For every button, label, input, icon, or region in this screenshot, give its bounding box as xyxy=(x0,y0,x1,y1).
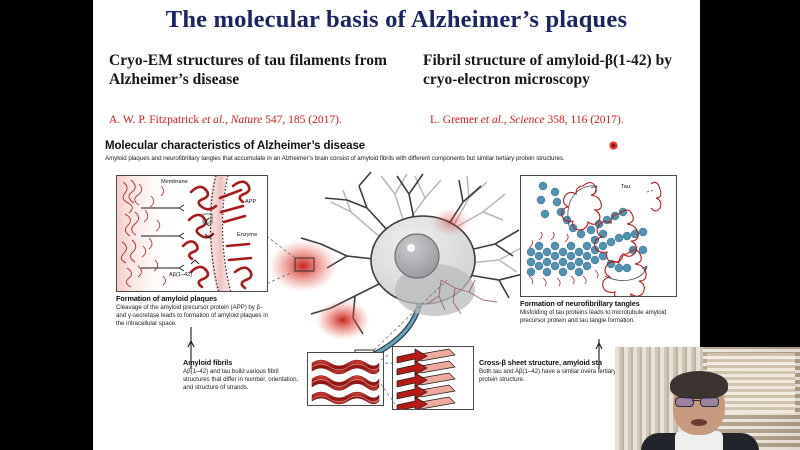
page-title: The molecular basis of Alzheimer’s plaqu… xyxy=(93,6,700,34)
caption-neurofibrillary-tangles: Formation of neurofibrillary tangles Mis… xyxy=(520,299,692,325)
label-tau: Tau xyxy=(621,184,630,190)
panel-amyloid-plaques: Membrane APP Enzyme Aβ(1–42) xyxy=(116,175,268,292)
caption-cross-beta-title: Cross-β sheet structure, amyloid sta xyxy=(479,358,629,367)
figure-subheading: Amyloid plaques and neurofibrillary tang… xyxy=(105,155,693,163)
glasses-left-lens xyxy=(675,397,694,407)
caption-amyloid-plaques: Formation of amyloid plaques Cleavage of… xyxy=(116,294,268,328)
label-membrane: Membrane xyxy=(161,179,188,185)
caption-amyloid-fibrils: Amyloid fibrils Aβ(1–42) and tau build v… xyxy=(183,358,303,392)
panel-fibril-structures xyxy=(307,352,384,406)
fibril-strands-diagram xyxy=(308,353,383,405)
presenter-mouth xyxy=(691,419,707,426)
citation-left-authors: A. W. P. Fitzpatrick xyxy=(109,114,202,126)
video-presentation-stage: The molecular basis of Alzheimer’s plaqu… xyxy=(0,0,800,450)
label-app: APP xyxy=(245,199,256,205)
citation-right-ref: 358, 116 (2017). xyxy=(545,114,624,126)
citation-left-etal: et al. xyxy=(202,114,225,126)
subtitle-left: Cryo-EM structures of tau filaments from… xyxy=(109,52,399,90)
figure-molecular-characteristics: Molecular characteristics of Alzheimer’s… xyxy=(105,140,695,440)
citation-left: A. W. P. Fitzpatrick et al., Nature 547,… xyxy=(109,114,342,126)
caption-tangles-title: Formation of neurofibrillary tangles xyxy=(520,299,692,308)
figure-heading: Molecular characteristics of Alzheimer’s… xyxy=(105,140,365,152)
caption-fibrils-body: Aβ(1–42) and tau build various fibril st… xyxy=(183,368,303,392)
caption-amyloid-plaques-title: Formation of amyloid plaques xyxy=(116,294,268,303)
presenter-webcam-overlay[interactable] xyxy=(615,347,800,450)
caption-cross-beta-sheet: Cross-β sheet structure, amyloid sta Bot… xyxy=(479,358,629,384)
label-enzyme: Enzyme xyxy=(237,232,257,238)
subtitle-right: Fibril structure of amyloid-β(1-42) by c… xyxy=(423,52,698,90)
citation-right: L. Gremer et al., Science 358, 116 (2017… xyxy=(430,114,624,126)
presenter-hair xyxy=(670,371,728,399)
citation-right-journal: Science xyxy=(510,114,545,126)
tau-tangle-diagram xyxy=(521,176,676,296)
citation-left-journal: Nature xyxy=(231,114,263,126)
glasses-bridge xyxy=(692,400,700,401)
caption-tangles-body: Misfolding of tau proteins leads to micr… xyxy=(520,309,692,325)
citation-right-etal: et al. xyxy=(481,114,504,126)
caption-cross-beta-body: Both tau and Aβ(1–42) have a similar ove… xyxy=(479,368,629,384)
presentation-slide: The molecular basis of Alzheimer’s plaqu… xyxy=(93,0,700,450)
label-abeta: Aβ(1–42) xyxy=(169,272,192,278)
fibril-zoom-connector xyxy=(381,354,421,404)
citation-right-authors: L. Gremer xyxy=(430,114,481,126)
glasses-right-lens xyxy=(700,397,719,407)
panel-neurofibrillary-tangles: Tau xyxy=(520,175,677,297)
citation-left-ref: 547, 185 (2017). xyxy=(262,114,342,126)
caption-fibrils-title: Amyloid fibrils xyxy=(183,358,303,367)
laser-pointer-dot xyxy=(609,141,618,150)
